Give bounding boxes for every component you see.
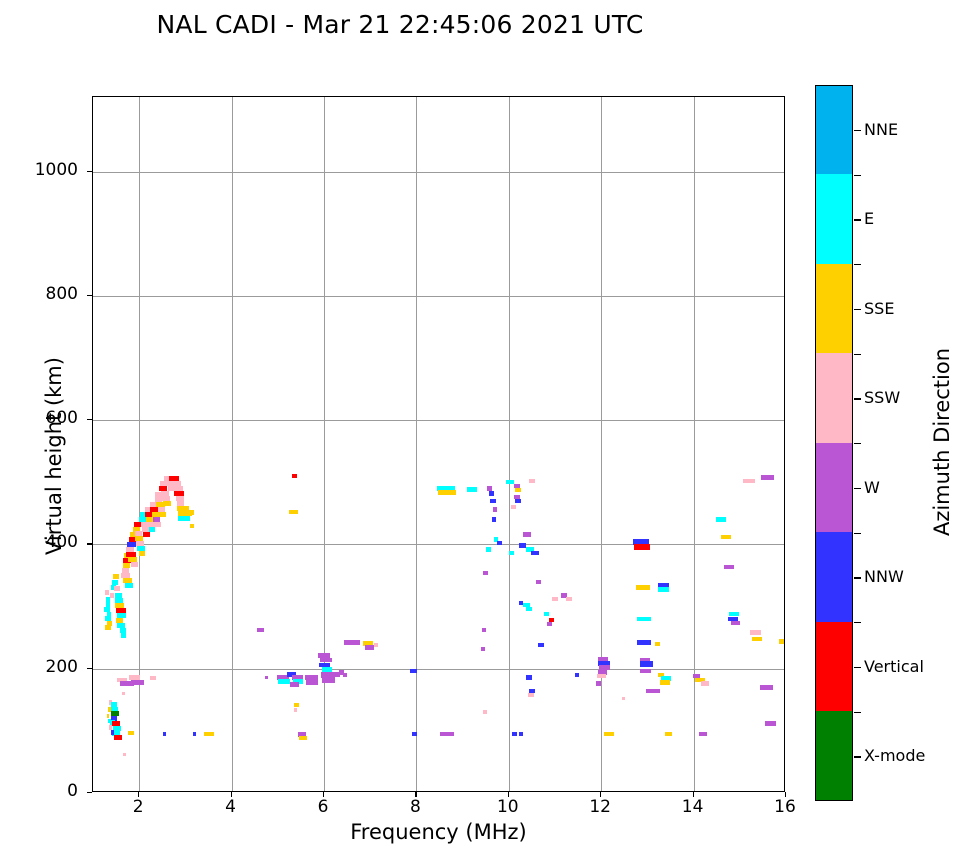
echo-marker <box>552 597 558 601</box>
echo-marker <box>761 475 775 480</box>
colorbar-tick <box>854 219 861 220</box>
colorbar-title: Azimuth Direction <box>930 272 954 612</box>
echo-marker <box>131 680 144 685</box>
echo-marker <box>121 633 126 638</box>
colorbar-segment-e[interactable] <box>816 174 852 264</box>
echo-marker <box>105 625 111 630</box>
echo-marker <box>596 681 601 685</box>
echo-marker <box>114 735 121 740</box>
colorbar-boundary-tick <box>854 533 861 534</box>
colorbar-boundary-tick <box>854 622 861 623</box>
y-tick <box>87 543 92 544</box>
echo-marker <box>163 501 170 506</box>
colorbar-tick <box>854 130 861 131</box>
echo-marker <box>743 479 754 483</box>
echo-marker <box>128 731 134 735</box>
colorbar-label-vertical: Vertical <box>864 657 924 676</box>
echo-marker <box>290 682 299 687</box>
echo-marker <box>637 617 651 622</box>
echo-marker <box>483 710 487 714</box>
y-tick-label: 400 <box>0 532 78 552</box>
echo-marker <box>506 480 514 484</box>
echo-marker <box>750 630 760 634</box>
plot-area <box>92 96 785 792</box>
echo-marker <box>575 673 580 677</box>
y-tick <box>87 295 92 296</box>
echo-marker <box>108 719 111 723</box>
echo-marker <box>724 565 734 569</box>
echo-marker <box>105 590 109 595</box>
echo-marker <box>129 675 139 679</box>
echo-marker <box>765 721 776 725</box>
echo-marker <box>779 639 784 643</box>
echo-marker <box>299 736 307 740</box>
echo-marker <box>440 732 454 736</box>
colorbar-tick <box>854 667 861 668</box>
echo-marker <box>483 571 488 575</box>
echo-marker <box>640 661 654 667</box>
echo-marker <box>123 563 130 568</box>
echo-marker <box>344 640 360 646</box>
echo-marker <box>154 522 160 527</box>
echo-marker <box>701 681 709 685</box>
echo-marker <box>294 703 299 707</box>
echo-marker <box>636 585 650 590</box>
x-tick-label: 12 <box>570 797 630 817</box>
echo-marker <box>512 732 517 736</box>
echo-marker <box>658 587 669 592</box>
echo-marker <box>752 637 762 641</box>
y-tick <box>87 419 92 420</box>
echo-marker <box>107 714 109 718</box>
echo-marker <box>646 689 660 693</box>
echo-marker <box>655 642 661 646</box>
echo-marker <box>131 562 138 567</box>
echo-marker <box>566 597 572 601</box>
colorbar-boundary-tick <box>854 264 861 265</box>
echo-marker <box>193 732 196 736</box>
echo-marker <box>523 532 531 536</box>
colorbar-segment-vertical[interactable] <box>816 622 852 712</box>
echo-marker <box>113 574 119 579</box>
echo-marker <box>278 679 290 684</box>
colorbar-label-w: W <box>864 478 880 497</box>
echo-marker <box>699 732 706 736</box>
y-tick <box>87 668 92 669</box>
echo-marker <box>515 499 521 503</box>
x-tick-label: 8 <box>385 797 445 817</box>
echo-marker <box>489 491 494 495</box>
y-tick-label: 0 <box>0 781 78 801</box>
echo-marker <box>125 583 132 588</box>
x-tick-label: 2 <box>108 797 168 817</box>
echo-marker <box>526 607 532 611</box>
y-axis-title: Virtual height (km) <box>42 306 66 606</box>
echo-marker <box>716 517 726 521</box>
x-tick-label: 6 <box>293 797 353 817</box>
echo-marker <box>265 676 268 680</box>
echo-marker <box>511 505 517 509</box>
page-title: NAL CADI - Mar 21 22:45:06 2021 UTC <box>0 10 800 39</box>
echo-marker <box>529 479 535 483</box>
echo-marker <box>143 532 149 537</box>
echo-marker <box>482 628 486 632</box>
echo-marker <box>536 580 542 584</box>
colorbar-label-sse: SSE <box>864 299 894 318</box>
colorbar-boundary-tick <box>854 175 861 176</box>
echo-marker <box>519 543 526 547</box>
echo-marker <box>374 643 378 647</box>
echo-marker <box>111 730 115 735</box>
y-tick <box>87 171 92 172</box>
colorbar-tick <box>854 309 861 310</box>
colorbar-tick <box>854 756 861 757</box>
echo-marker <box>604 732 614 736</box>
echo-marker <box>412 732 417 736</box>
echo-marker <box>729 612 739 616</box>
echo-marker <box>486 547 492 551</box>
echo-marker <box>306 680 318 685</box>
echo-marker <box>204 732 214 736</box>
colorbar-segment-sse[interactable] <box>816 264 852 354</box>
y-tick <box>87 792 92 793</box>
echo-scatter-layer <box>93 97 784 791</box>
echo-marker <box>481 647 485 651</box>
echo-marker <box>123 753 125 757</box>
echo-marker <box>467 487 477 492</box>
echo-marker <box>538 643 544 647</box>
colorbar-label-x-mode: X-mode <box>864 746 925 765</box>
colorbar-boundary-tick <box>854 712 861 713</box>
echo-marker <box>547 622 552 626</box>
echo-marker <box>531 551 539 555</box>
echo-marker <box>599 665 610 670</box>
colorbar-label-nne: NNE <box>864 120 898 139</box>
y-tick-label: 800 <box>0 284 78 304</box>
echo-marker <box>114 586 120 591</box>
echo-marker <box>509 551 515 555</box>
ionogram-figure: NAL CADI - Mar 21 22:45:06 2021 UTC 2468… <box>0 0 958 857</box>
colorbar-tick <box>854 577 861 578</box>
echo-marker <box>528 693 534 697</box>
echo-marker <box>544 612 550 616</box>
y-tick-label: 200 <box>0 657 78 677</box>
echo-marker <box>159 512 166 517</box>
colorbar-segment-x-mode[interactable] <box>816 711 852 801</box>
echo-marker <box>487 486 492 490</box>
colorbar-tick <box>854 488 861 489</box>
echo-marker <box>410 669 416 673</box>
echo-marker <box>257 628 264 632</box>
echo-marker <box>640 669 650 673</box>
echo-marker <box>490 499 496 503</box>
echo-marker <box>721 535 731 539</box>
echo-marker <box>294 708 298 712</box>
x-tick-label: 14 <box>663 797 723 817</box>
y-tick-label: 600 <box>0 408 78 428</box>
colorbar-segment-w[interactable] <box>816 443 852 533</box>
x-tick-label: 16 <box>755 797 815 817</box>
echo-marker <box>343 673 347 677</box>
echo-marker <box>134 522 140 527</box>
echo-marker <box>292 474 297 478</box>
echo-marker <box>622 697 626 701</box>
echo-marker <box>322 677 335 683</box>
echo-marker <box>760 685 773 690</box>
echo-marker <box>112 580 118 585</box>
colorbar[interactable] <box>815 85 853 801</box>
echo-marker <box>438 490 456 495</box>
echo-marker <box>634 544 650 550</box>
echo-marker <box>597 674 606 678</box>
x-tick-label: 4 <box>201 797 261 817</box>
echo-marker <box>665 732 671 736</box>
echo-marker <box>637 640 651 645</box>
colorbar-boundary-tick <box>854 354 861 355</box>
colorbar-tick <box>854 398 861 399</box>
echo-marker <box>149 527 155 532</box>
echo-marker <box>492 517 497 521</box>
echo-marker <box>106 597 110 602</box>
colorbar-segment-ssw[interactable] <box>816 353 852 443</box>
echo-marker <box>515 488 521 492</box>
echo-marker <box>139 551 145 556</box>
echo-marker <box>497 541 503 545</box>
colorbar-label-e: E <box>864 209 874 228</box>
colorbar-segment-nne[interactable] <box>816 85 852 175</box>
x-axis-title: Frequency (MHz) <box>92 820 785 844</box>
echo-marker <box>660 680 670 684</box>
colorbar-segment-nnw[interactable] <box>816 532 852 622</box>
echo-marker <box>731 621 740 625</box>
echo-marker <box>122 692 125 696</box>
x-tick-label: 10 <box>478 797 538 817</box>
echo-marker <box>493 507 498 511</box>
echo-marker <box>178 516 190 521</box>
colorbar-label-nnw: NNW <box>864 567 904 586</box>
colorbar-label-ssw: SSW <box>864 388 900 407</box>
colorbar-boundary-tick <box>854 443 861 444</box>
echo-marker <box>190 524 194 528</box>
y-tick-label: 1000 <box>0 160 78 180</box>
echo-marker <box>150 676 156 680</box>
echo-marker <box>526 675 532 679</box>
echo-marker <box>183 510 194 515</box>
echo-marker <box>365 645 374 650</box>
echo-marker <box>163 732 166 736</box>
echo-marker <box>519 732 524 736</box>
echo-marker <box>289 510 297 514</box>
